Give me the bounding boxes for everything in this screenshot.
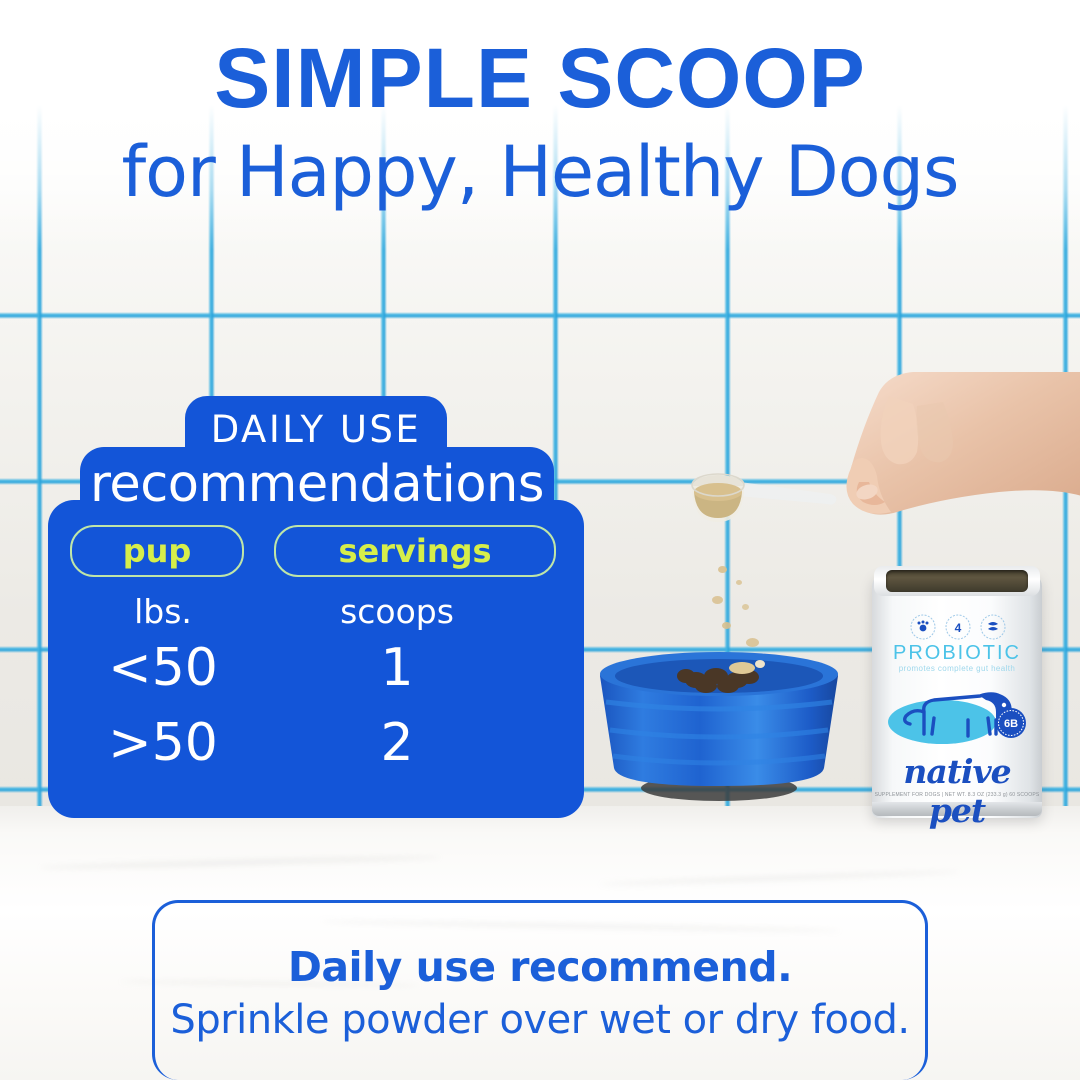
header-scoops: scoops xyxy=(256,592,538,631)
powder-particle xyxy=(712,596,723,604)
product-infographic: SIMPLE SCOOP for Happy, Healthy Dogs xyxy=(0,0,1080,1080)
powder-particle xyxy=(742,604,749,610)
card-eyebrow: DAILY USE xyxy=(185,408,447,451)
product-fine-print: SUPPLEMENT FOR DOGS | NET WT. 8.3 OZ (23… xyxy=(872,792,1042,798)
quality-seal-icon xyxy=(980,614,1006,640)
cell-weight: >50 xyxy=(70,706,256,781)
column-pills: pup servings xyxy=(48,525,584,577)
table-row: >50 2 xyxy=(48,706,584,781)
measuring-scoop xyxy=(680,470,840,540)
pill-pup: pup xyxy=(70,525,244,577)
probiotic-tin: 4 PROBIOTIC promotes complete gut health… xyxy=(866,556,1048,818)
certification-seals: 4 xyxy=(888,614,1028,640)
dosage-table: lbs. scoops <50 1 >50 2 xyxy=(48,592,584,782)
table-row: <50 1 xyxy=(48,631,584,706)
daily-use-card: DAILY USE recommendations pup servings l… xyxy=(0,0,620,460)
instruction-line-2: Sprinkle powder over wet or dry food. xyxy=(170,997,909,1043)
cell-weight: <50 xyxy=(70,631,256,706)
paw-seal-icon xyxy=(910,614,936,640)
powder-particle xyxy=(722,622,731,629)
powder-particle xyxy=(718,566,727,573)
cell-scoops: 1 xyxy=(256,631,538,706)
table-header-row: lbs. scoops xyxy=(48,592,584,631)
card-title: recommendations xyxy=(70,455,564,514)
seal-number: 4 xyxy=(955,621,962,635)
tin-open-top xyxy=(886,570,1028,592)
instruction-line-1: Daily use recommend. xyxy=(288,943,792,991)
dog-food-bowl xyxy=(592,640,846,805)
header-weight: lbs. xyxy=(70,592,256,631)
pill-servings: servings xyxy=(274,525,556,577)
product-headline: PROBIOTIC xyxy=(872,642,1042,665)
four-strains-seal-icon: 4 xyxy=(945,614,971,640)
powder-particle xyxy=(736,580,742,585)
cell-scoops: 2 xyxy=(256,706,538,781)
badge-label: 6B xyxy=(1004,718,1018,730)
cfu-count-badge: 6B xyxy=(992,704,1030,742)
instruction-callout: Daily use recommend. Sprinkle powder ove… xyxy=(152,900,928,1080)
brand-logo: native pet xyxy=(872,752,1042,830)
